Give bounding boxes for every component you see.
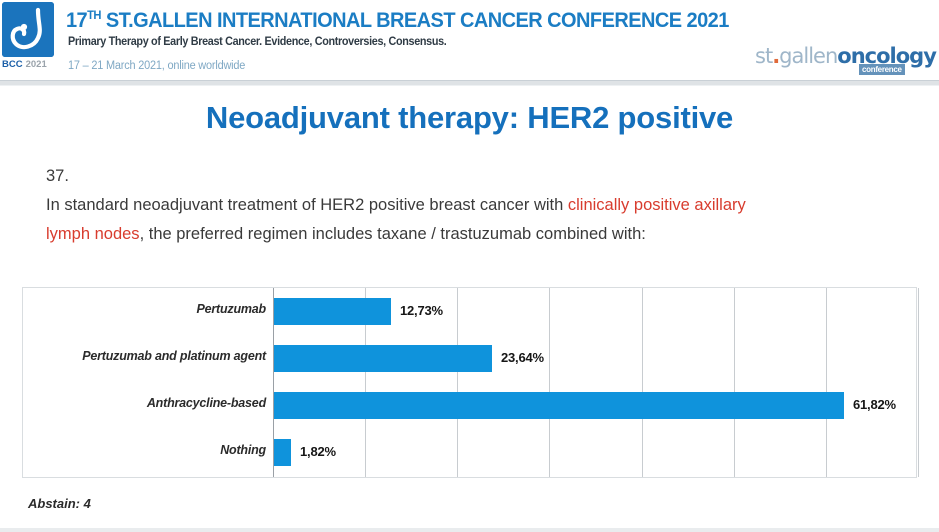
chart-gridline	[918, 288, 919, 477]
page-title: Neoadjuvant therapy: HER2 positive	[0, 100, 939, 136]
chart-plot-area: Pertuzumab12,73%Pertuzumab and platinum …	[273, 288, 918, 477]
brand-conference-badge: conference	[859, 64, 905, 75]
st-gallen-oncology-logo: st.gallenoncology conference	[755, 44, 935, 78]
conference-title-ordinal: TH	[87, 8, 101, 22]
chart-bar	[274, 345, 492, 372]
abstain-count: Abstain: 4	[28, 496, 91, 511]
chart-category-label: Pertuzumab and platinum agent	[82, 349, 266, 363]
question-number: 37.	[46, 162, 746, 191]
logo-caption-abbr: BCC	[2, 59, 23, 70]
chart-bar-row: Pertuzumab and platinum agent23,64%	[273, 336, 918, 383]
brand-gallen: gallen	[779, 44, 837, 68]
logo-caption-year: 2021	[26, 59, 47, 70]
question-part-2: , the preferred regimen includes taxane …	[140, 225, 646, 243]
chart-bar-value: 12,73%	[400, 303, 443, 318]
chart-bar-value: 23,64%	[501, 350, 544, 365]
bottom-divider	[0, 528, 939, 532]
question-part-1: In standard neoadjuvant treatment of HER…	[46, 196, 568, 214]
breast-cancer-droplet-logo-icon	[2, 2, 54, 57]
conference-dates: 17 – 21 March 2021, online worldwide	[68, 60, 245, 72]
conference-subtitle: Primary Therapy of Early Breast Cancer. …	[68, 36, 446, 48]
conference-title: 17TH ST.GALLEN INTERNATIONAL BREAST CANC…	[66, 8, 729, 33]
brand-st: st	[755, 44, 772, 68]
conference-header: BCC2021 17TH ST.GALLEN INTERNATIONAL BRE…	[0, 0, 939, 80]
header-divider	[0, 80, 939, 86]
chart-bar-value: 61,82%	[853, 397, 896, 412]
chart-bar-value: 1,82%	[300, 444, 336, 459]
conference-title-number: 17	[66, 8, 87, 32]
chart-category-label: Nothing	[220, 443, 266, 457]
chart-bar	[274, 298, 391, 325]
chart-bar	[274, 392, 844, 419]
chart-bar	[274, 439, 291, 466]
results-bar-chart: Pertuzumab12,73%Pertuzumab and platinum …	[22, 287, 917, 478]
question-text: 37.In standard neoadjuvant treatment of …	[46, 162, 746, 249]
brand-wordmark: st.gallenoncology	[755, 44, 936, 68]
logo-caption: BCC2021	[2, 59, 72, 70]
chart-bar-row: Nothing1,82%	[273, 430, 918, 477]
chart-bar-row: Pertuzumab12,73%	[273, 289, 918, 336]
chart-category-label: Pertuzumab	[196, 302, 266, 316]
chart-category-label: Anthracycline-based	[147, 396, 266, 410]
chart-bar-row: Anthracycline-based61,82%	[273, 383, 918, 430]
conference-title-rest: ST.GALLEN INTERNATIONAL BREAST CANCER CO…	[101, 8, 729, 32]
